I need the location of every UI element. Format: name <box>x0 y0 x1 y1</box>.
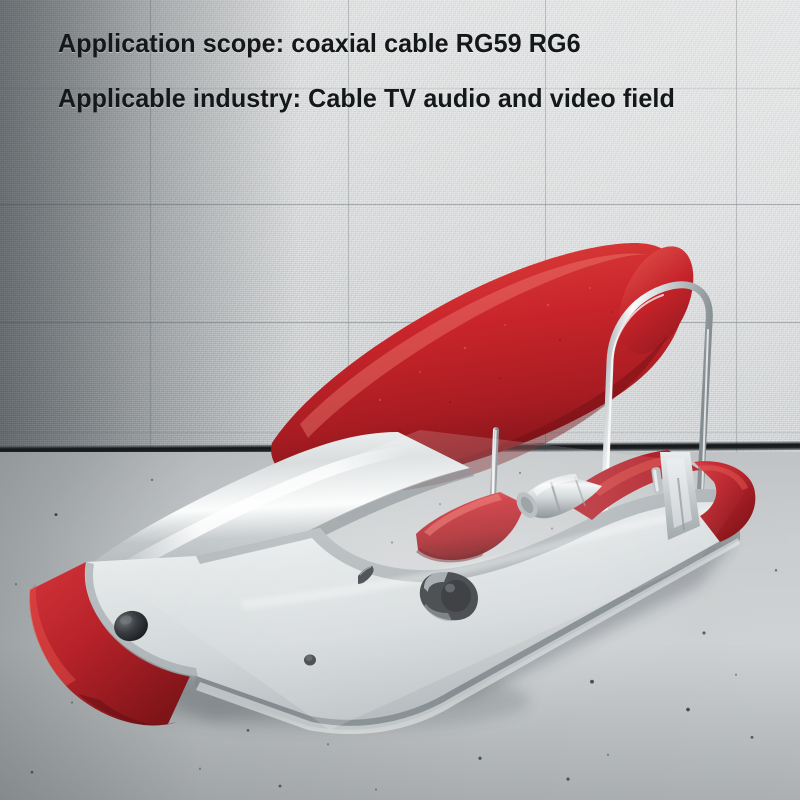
product-image-canvas: Application scope: coaxial cable RG59 RG… <box>0 0 800 800</box>
compression-tool-photo <box>0 0 800 800</box>
